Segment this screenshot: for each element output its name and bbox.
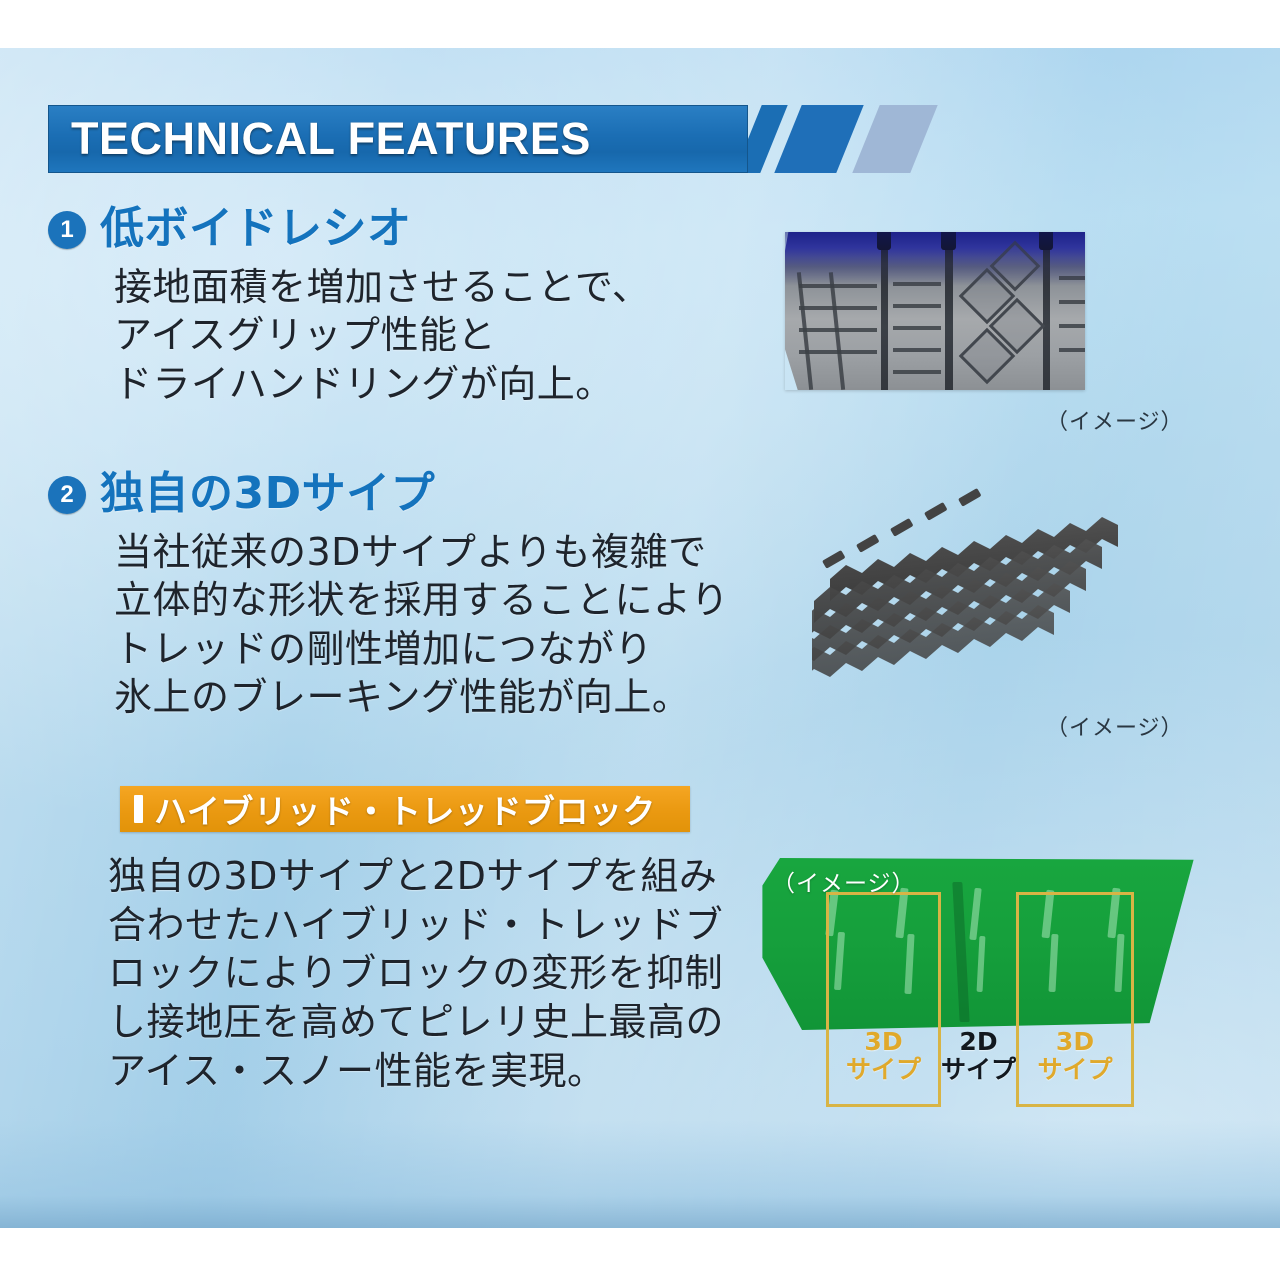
feature-1-line: 接地面積を増加させることで、 [114,263,768,312]
hybrid-line: 合わせたハイブリッド・トレッドブ [108,901,724,950]
label-bottom: サイプ [941,1055,1016,1084]
tire-tread-surface [785,232,1085,390]
feature-2-line: 氷上のブレーキング性能が向上。 [114,673,808,722]
feature-1-line: アイスグリップ性能と [114,311,768,360]
feature-2-body: 当社従来の3Dサイプよりも複雑で 立体的な形状を採用することにより トレッドの剛… [114,528,808,723]
hybrid-line: ロックによりブロックの変形を抑制 [108,949,724,998]
tire-tread-photo [785,232,1085,390]
hybrid-line: し接地圧を高めてピレリ史上最高の [108,998,724,1047]
label-2d-sipe: 2D サイプ [941,1028,1016,1084]
feature-1-number-badge: 1 [48,211,86,249]
feature-2-line: 立体的な形状を採用することにより [114,576,808,625]
tread-block-diagram: （イメージ） 3D サイプ 2D サイプ 3D サイプ [758,858,1198,1108]
banner-bar: TECHNICAL FEATURES [48,105,748,173]
feature-2-number-badge: 2 [48,476,86,514]
feature-1-heading: 1 低ボイドレシオ [48,205,768,253]
feature-block-1: 1 低ボイドレシオ 接地面積を増加させることで、 アイスグリップ性能と ドライハ… [48,205,768,408]
label-bottom: サイプ [1037,1055,1112,1084]
feature-1-line: ドライハンドリングが向上。 [114,360,768,409]
diagram-image-caption: （イメージ） [772,864,916,898]
hybrid-body-text: 独自の3Dサイプと2Dサイプを組み 合わせたハイブリッド・トレッドブ ロックによ… [108,852,724,1095]
three-d-sipe-illustration [812,487,1152,687]
technical-features-page: TECHNICAL FEATURES 1 低ボイドレシオ 接地面積を増加させるこ… [0,0,1280,1280]
label-bottom: サイプ [846,1055,921,1084]
hybrid-tread-block-label: ハイブリッド・トレッドブロック [154,785,656,833]
label-top: 3D [1056,1027,1094,1056]
feature-2-title: 独自の3Dサイプ [100,470,435,518]
hybrid-tread-block-header: ハイブリッド・トレッドブロック [120,786,690,832]
feature-2-line: 当社従来の3Dサイプよりも複雑で [114,528,808,577]
page-title: TECHNICAL FEATURES [71,113,591,165]
feature-1-title: 低ボイドレシオ [100,205,412,253]
label-3d-sipe-right: 3D サイプ [1016,1028,1134,1084]
label-top: 3D [864,1027,902,1056]
hybrid-line: アイス・スノー性能を実現。 [108,1047,724,1096]
label-3d-sipe-left: 3D サイプ [826,1028,941,1084]
header-tick-mark [134,795,143,823]
hybrid-line: 独自の3Dサイプと2Dサイプを組み [108,852,724,901]
label-top: 2D [959,1027,997,1056]
tread-image-caption: （イメージ） [1046,404,1184,436]
technical-features-banner: TECHNICAL FEATURES [48,105,898,173]
feature-2-line: トレッドの剛性増加につながり [114,625,808,674]
feature-1-body: 接地面積を増加させることで、 アイスグリップ性能と ドライハンドリングが向上。 [114,263,768,409]
feature-2-heading: 2 独自の3Dサイプ [48,470,808,518]
banner-slash-mid [774,105,863,173]
feature-block-2: 2 独自の3Dサイプ 当社従来の3Dサイプよりも複雑で 立体的な形状を採用するこ… [48,470,808,722]
sipe-image-caption: （イメージ） [1046,710,1184,742]
